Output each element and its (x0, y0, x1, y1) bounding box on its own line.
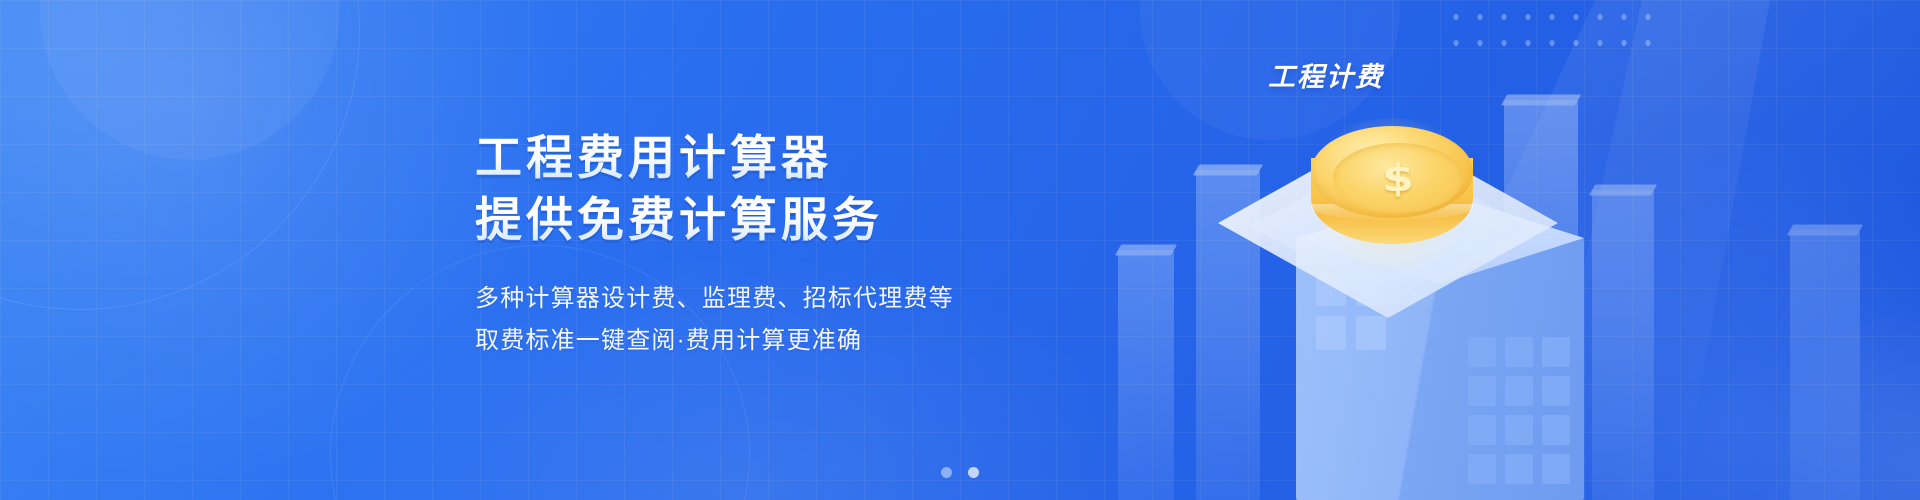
banner-subtitle: 多种计算器设计费、监理费、招标代理费等 取费标准一键查阅·费用计算更准确 (475, 278, 1095, 362)
coin-face: $ (1333, 143, 1463, 213)
banner-illustration: $ 工程计费 (1100, 0, 1920, 500)
banner-copy: 工程费用计算器 提供免费计算服务 多种计算器设计费、监理费、招标代理费等 取费标… (475, 128, 1095, 362)
hero-banner: 工程费用计算器 提供免费计算服务 多种计算器设计费、监理费、招标代理费等 取费标… (0, 0, 1920, 500)
subtitle-line-1: 多种计算器设计费、监理费、招标代理费等 (475, 278, 1095, 320)
carousel-indicator[interactable] (941, 467, 979, 478)
background-bar-1 (1118, 250, 1174, 500)
illustration-label: 工程计费 (1268, 55, 1384, 94)
subtitle-line-2: 取费标准一键查阅·费用计算更准确 (475, 320, 1095, 362)
carousel-dot-1[interactable] (941, 467, 952, 478)
headline-line-2: 提供免费计算服务 (475, 190, 1095, 252)
headline-line-1: 工程费用计算器 (475, 128, 1095, 190)
dollar-sign-icon: $ (1382, 159, 1414, 197)
carousel-dot-2[interactable] (968, 467, 979, 478)
coin-top-surface: $ (1311, 126, 1473, 218)
background-bar-4 (1592, 190, 1654, 500)
background-bar-5 (1790, 230, 1860, 500)
gold-coin-icon: $ (1305, 120, 1481, 270)
building-window-group-right (1468, 337, 1570, 484)
